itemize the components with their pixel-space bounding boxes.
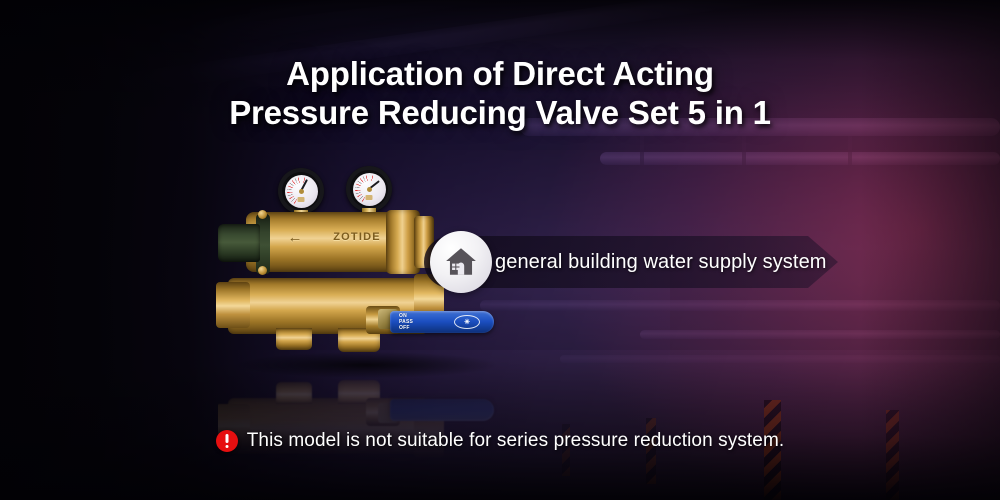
pressure-adjust-cap (218, 224, 260, 262)
house-icon (430, 231, 492, 293)
ball-valve-handle-label: ON PASS OFF (399, 313, 413, 331)
gauge-dial-face (353, 173, 386, 206)
outlet-pressure-gauge (346, 166, 392, 212)
flange-bolt (258, 210, 267, 219)
lower-port-left (276, 328, 312, 350)
promo-banner: ← ZOTIDE ON PASS OFF ✳ (0, 0, 1000, 500)
callout-label: general building water supply system (495, 236, 827, 288)
banner-title: Application of Direct Acting Pressure Re… (0, 54, 1000, 132)
gauge-brand-mark (298, 197, 305, 202)
gauge-brand-mark (366, 195, 373, 200)
warning-exclamation-icon (216, 430, 238, 452)
gauge-hub (299, 189, 304, 194)
flow-direction-arrow: ← (278, 232, 312, 244)
footnote-text: This model is not suitable for series pr… (247, 430, 785, 452)
gauge-dial-face (285, 175, 318, 208)
footnote-warning: This model is not suitable for series pr… (0, 430, 1000, 452)
ball-valve-handle-logo: ✳ (454, 315, 480, 329)
flange-bolt (258, 266, 267, 275)
inlet-union-nut (216, 282, 250, 328)
brand-engraving: ZOTIDE (326, 230, 388, 245)
inlet-pressure-gauge (278, 168, 324, 214)
gauge-hub (367, 187, 372, 192)
ball-valve-handle: ON PASS OFF ✳ (390, 311, 494, 333)
